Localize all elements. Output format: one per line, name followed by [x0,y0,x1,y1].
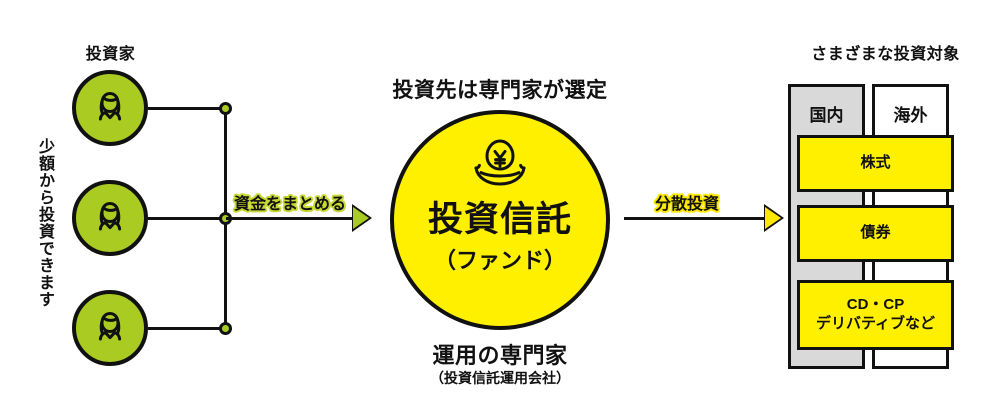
investor-avatar-1 [72,70,148,146]
target-column-domestic-label: 国内 [791,101,862,126]
arrow-1-shaft [226,217,356,220]
fund-footer-sublabel: （投資信託運用会社） [360,368,640,388]
fund-top-label: 投資先は専門家が選定 [360,74,640,104]
connector-line-2 [148,217,228,220]
connector-node-1 [219,102,232,115]
arrow-2-shaft [624,217,769,220]
asset-box-label-line1: CD・CP [816,296,935,315]
fund-circle: 投資信託 （ファンド） [390,110,610,330]
asset-box-label: 債券 [860,224,890,243]
asset-box-bonds: 債券 [797,205,954,262]
asset-box-label-line2: デリバティブなど [816,315,935,334]
investors-label: 投資家 [58,40,163,64]
diagram-canvas: 投資家 少額から投資できます [0,0,991,406]
connector-line-1 [148,107,228,110]
arrow-label-pool-funds: 資金をまとめる [234,190,346,214]
arrow-1-head [353,207,369,229]
connector-node-3 [219,322,232,335]
asset-box-stocks: 株式 [797,135,954,192]
target-column-overseas-label: 海外 [875,101,946,126]
targets-title: さまざまな投資対象 [780,40,991,64]
arrow-label-diversified-investment: 分散投資 [655,190,719,214]
asset-box-cd-cp-derivatives: CD・CP デリバティブなど [797,280,954,350]
connector-line-3 [148,327,228,330]
investors-side-note: 少額から投資できます [22,138,52,308]
arrow-2-head [765,207,781,229]
investor-avatar-3 [72,290,148,366]
asset-box-label: 株式 [860,154,890,173]
fund-footer-label: 運用の専門家 [360,338,640,370]
yen-coin-bowl-icon [468,138,532,193]
fund-sub-name: （ファンド） [394,250,606,272]
investor-avatar-2 [72,180,148,256]
fund-name: 投資信託 [394,202,606,237]
